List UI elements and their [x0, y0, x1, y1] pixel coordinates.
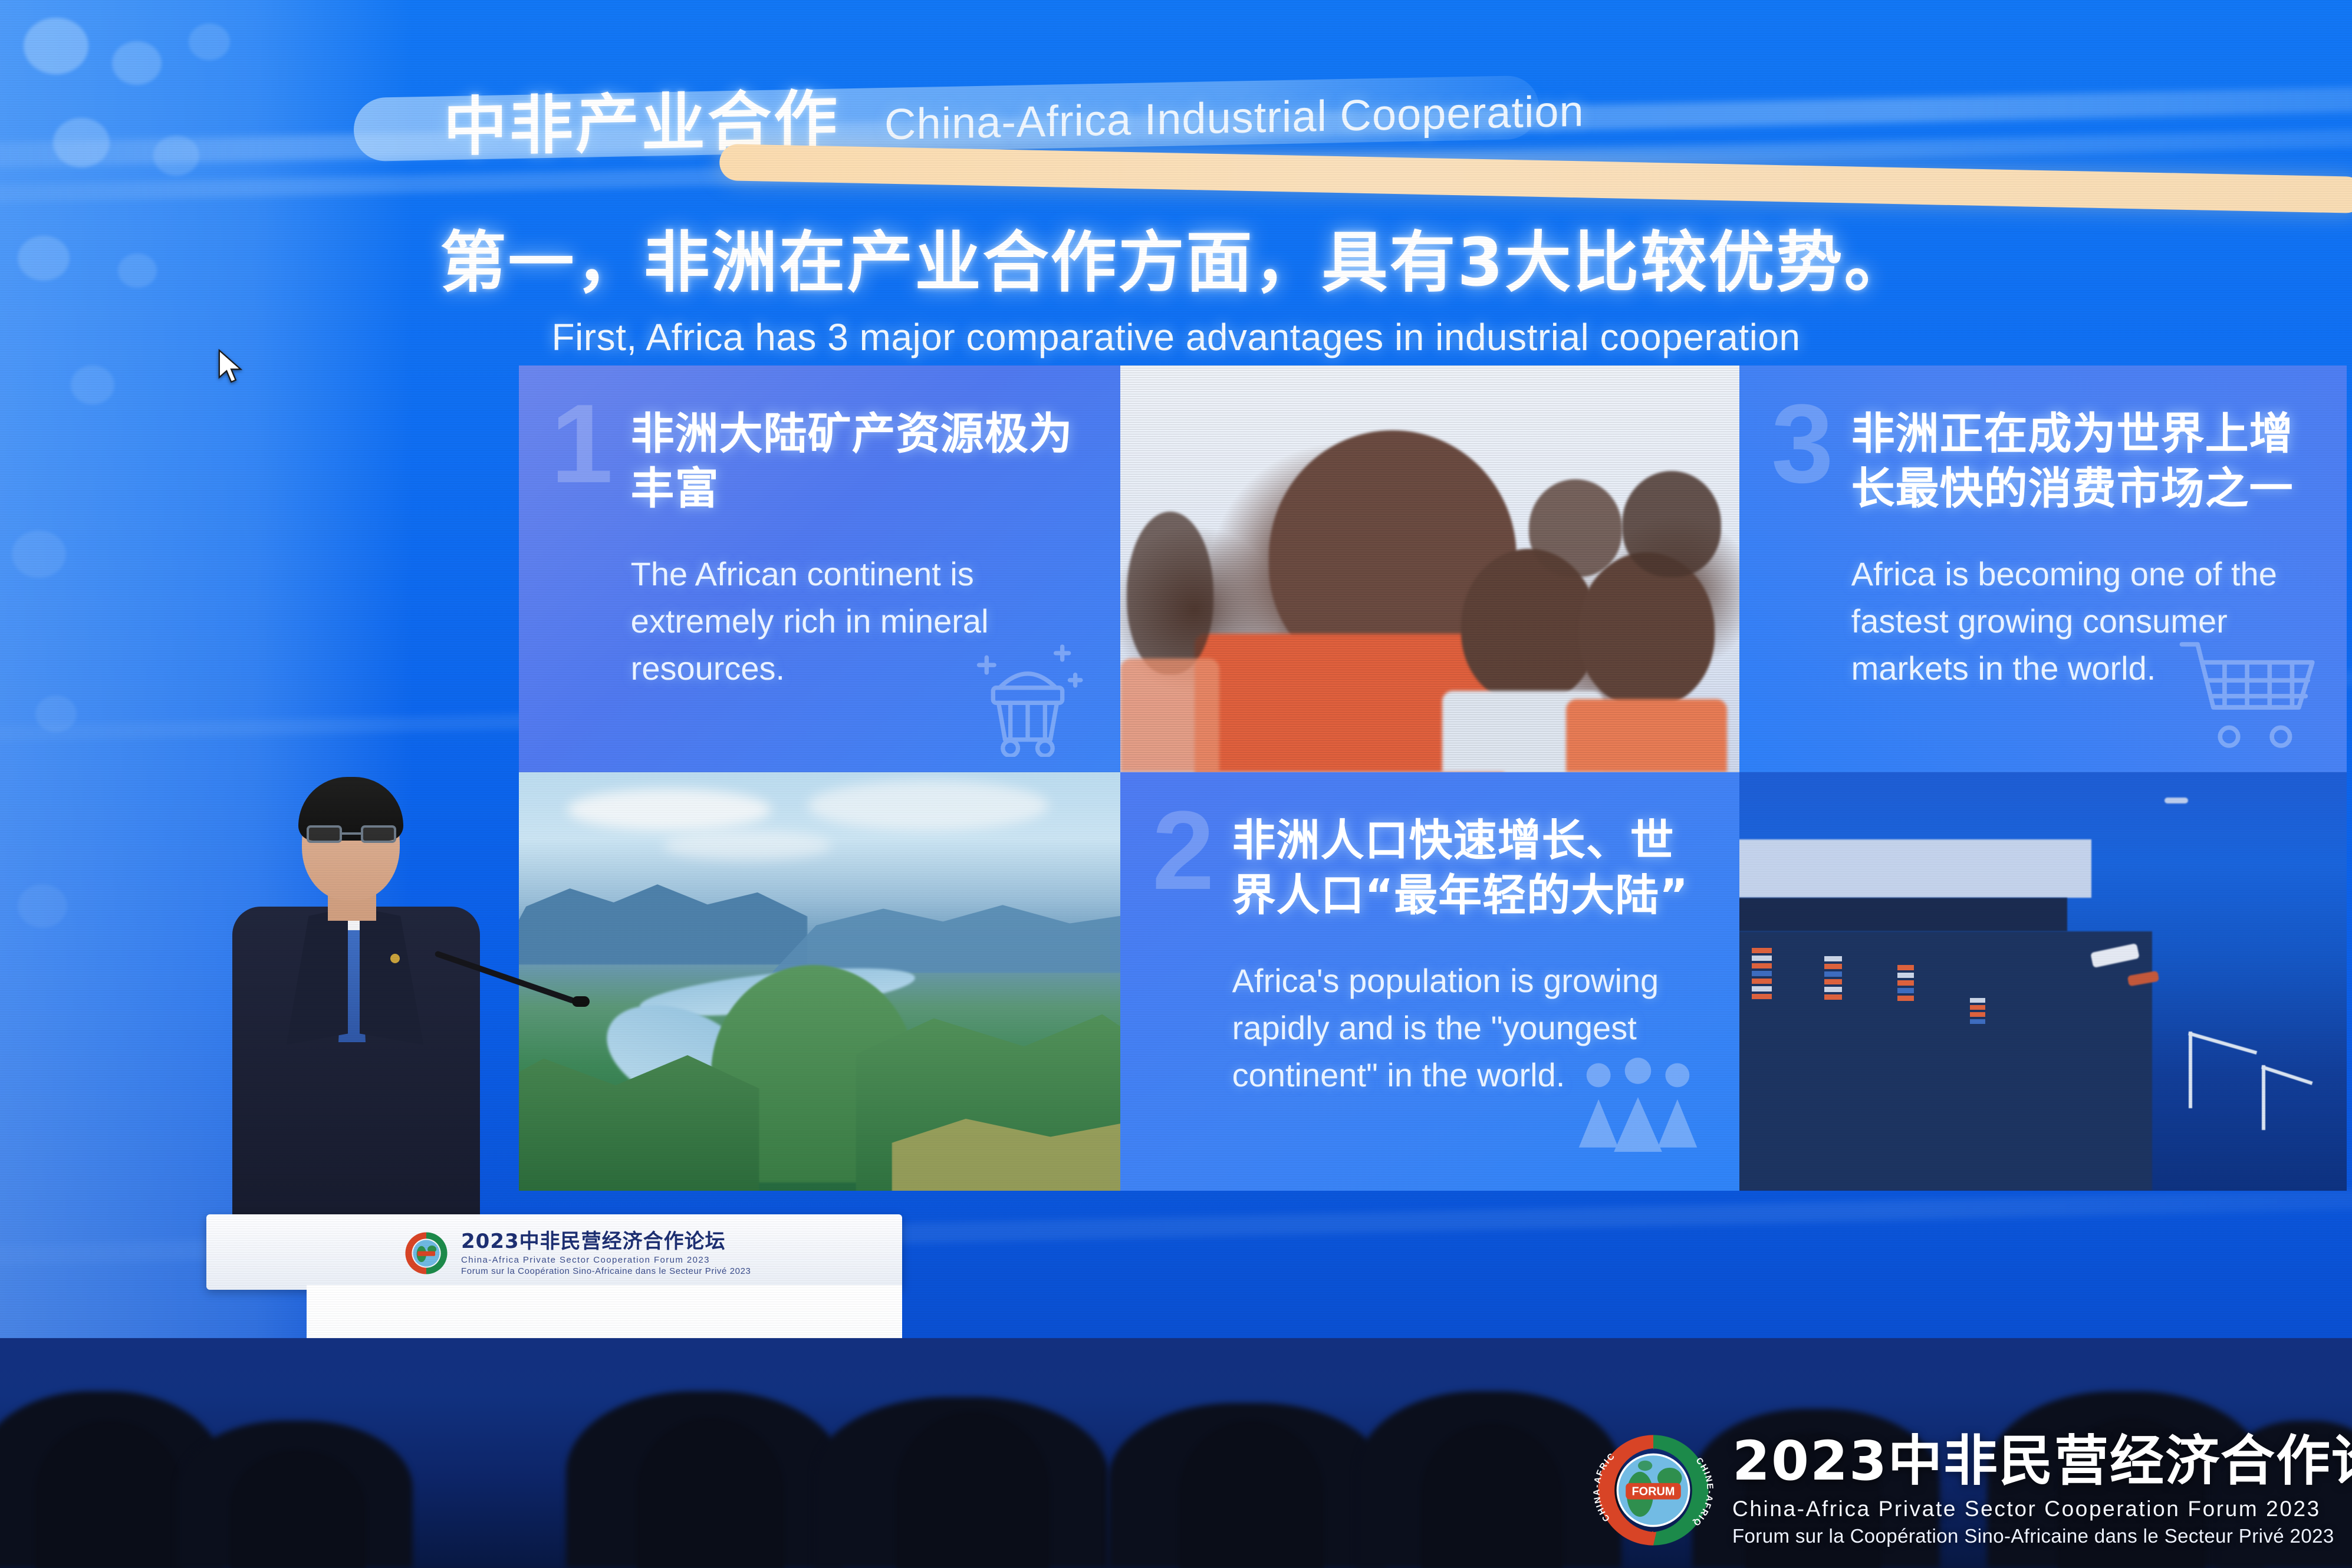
- slide-content-mosaic: 1 非洲大陆矿产资源极为丰富 The African continent is …: [519, 365, 2347, 1191]
- advantage-card-3: 3 非洲正在成为世界上增长最快的消费市场之一 Africa is becomin…: [1739, 365, 2347, 772]
- card-title-en-3: Africa is becoming one of the fastest gr…: [1851, 551, 2309, 691]
- podium-sign-cn: 2023中非民营经济合作论坛: [461, 1231, 751, 1251]
- microphone-head: [572, 996, 590, 1007]
- card-title-cn-2: 非洲人口快速增长、世界人口“最年轻的大陆”: [1232, 813, 1702, 923]
- podium-sign-logo: [402, 1229, 450, 1277]
- speaker-at-podium: FORUM: [212, 760, 578, 1427]
- slide-title-block: 第一，非洲在产业合作方面，具有3大比较优势。 First, Africa has…: [0, 209, 2352, 359]
- podium-sign-en: China-Africa Private Sector Cooperation …: [461, 1256, 751, 1264]
- speaker-glasses: [307, 825, 396, 843]
- logo-center-text: FORUM: [1631, 1485, 1675, 1498]
- mouse-cursor-icon: [217, 349, 244, 386]
- card-number-2: 2: [1152, 805, 1215, 1098]
- card-title-en-1: The African continent is extremely rich …: [631, 551, 1083, 691]
- forum-title-cn: 2023中非民营经济合作论坛: [1732, 1434, 2352, 1488]
- forum-title-fr: Forum sur la Coopération Sino-Africaine …: [1732, 1526, 2352, 1546]
- card-title-en-2: Africa's population is growing rapidly a…: [1232, 957, 1702, 1098]
- advantage-card-1: 1 非洲大陆矿产资源极为丰富 The African continent is …: [519, 365, 1120, 772]
- conference-stage-photo: 中非产业合作 China-Africa Industrial Cooperati…: [0, 0, 2352, 1568]
- forum-branding-overlay: FORUM CHINA-AFRICA CHINE-AFRIQUE 2023中非民…: [1592, 1418, 2341, 1562]
- forum-logo-icon: FORUM CHINA-AFRICA CHINE-AFRIQUE: [1592, 1429, 1715, 1551]
- card-number-1: 1: [551, 398, 613, 691]
- slide-title-en: First, Africa has 3 major comparative ad…: [0, 315, 2352, 359]
- forum-title-en: China-Africa Private Sector Cooperation …: [1732, 1498, 2352, 1520]
- advantage-card-2: 2 非洲人口快速增长、世界人口“最年轻的大陆” Africa's populat…: [1120, 772, 1739, 1191]
- african-canyon-photo: [519, 772, 1120, 1191]
- podium-sign-fr: Forum sur la Coopération Sino-Africaine …: [461, 1267, 751, 1276]
- container-port-photo: [1739, 772, 2347, 1191]
- lapel-pin: [390, 954, 400, 963]
- card-title-cn-1: 非洲大陆矿产资源极为丰富: [631, 407, 1083, 516]
- podium-sign: 2023中非民营经济合作论坛 China-Africa Private Sect…: [402, 1226, 862, 1280]
- african-children-photo: [1120, 365, 1739, 772]
- card-number-3: 3: [1771, 398, 1834, 691]
- slide-title-cn: 第一，非洲在产业合作方面，具有3大比较优势。: [0, 209, 2352, 305]
- card-title-cn-3: 非洲正在成为世界上增长最快的消费市场之一: [1851, 407, 2309, 516]
